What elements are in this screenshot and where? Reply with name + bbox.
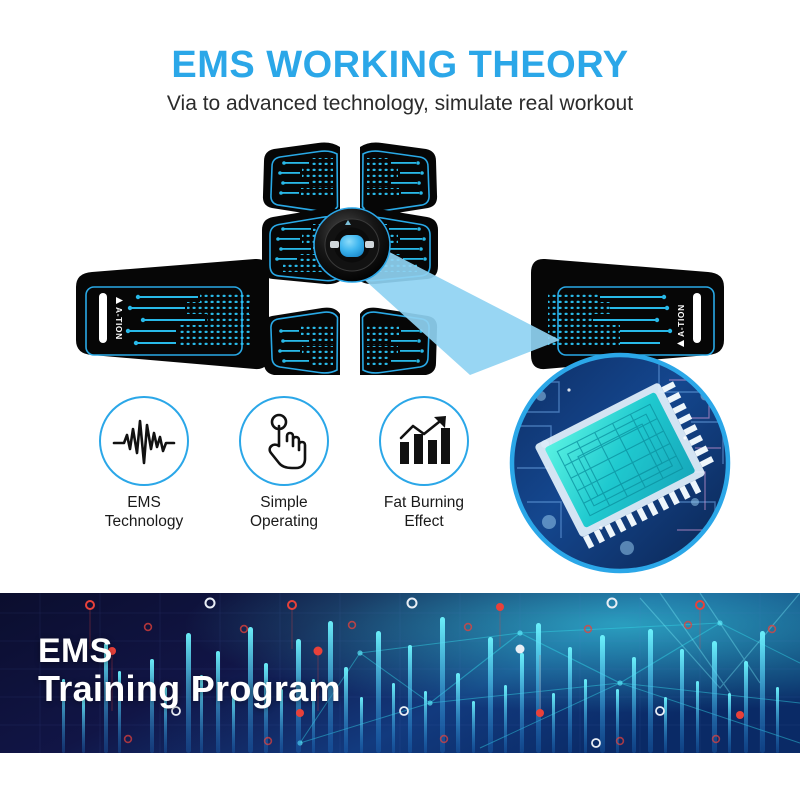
svg-text:A-TION: A-TION [676, 304, 686, 337]
svg-text:A-TION: A-TION [114, 307, 124, 340]
center-controller [314, 208, 390, 282]
bar-chart-arrow-icon [394, 414, 454, 468]
feature-list: EMS Technology Simple Operating [74, 396, 494, 546]
page-subtitle: Via to advanced technology, simulate rea… [0, 90, 800, 118]
ems-device-illustration: A-TION [0, 125, 800, 375]
waveform-icon [112, 415, 176, 467]
page-title: EMS WORKING THEORY [0, 44, 800, 86]
feature-ems-technology[interactable]: EMS Technology [74, 396, 214, 531]
feature-icon-ring-3 [379, 396, 469, 486]
feature-label-1: EMS Technology [74, 493, 214, 531]
feature-icon-ring-1 [99, 396, 189, 486]
feature-icon-ring-2 [239, 396, 329, 486]
feature-fat-burning-effect[interactable]: Fat Burning Effect [354, 396, 494, 531]
hand-tap-icon [255, 412, 313, 470]
banner-heading-line1: EMS [38, 632, 341, 670]
banner-heading-line2: Training Program [38, 670, 341, 708]
abs-pad-top-right [360, 143, 437, 217]
circuit-board-magnifier [509, 352, 731, 574]
feature-label-3: Fat Burning Effect [354, 493, 494, 531]
abs-pad-bottom-left [263, 308, 340, 375]
product-infographic: EMS WORKING THEORY Via to advanced techn… [0, 0, 800, 800]
banner-heading: EMS Training Program [38, 632, 341, 708]
feature-simple-operating[interactable]: Simple Operating [214, 396, 354, 531]
abs-pad-top-left [263, 143, 340, 217]
feature-label-2: Simple Operating [214, 493, 354, 531]
arm-pad-left: A-TION [76, 259, 269, 369]
